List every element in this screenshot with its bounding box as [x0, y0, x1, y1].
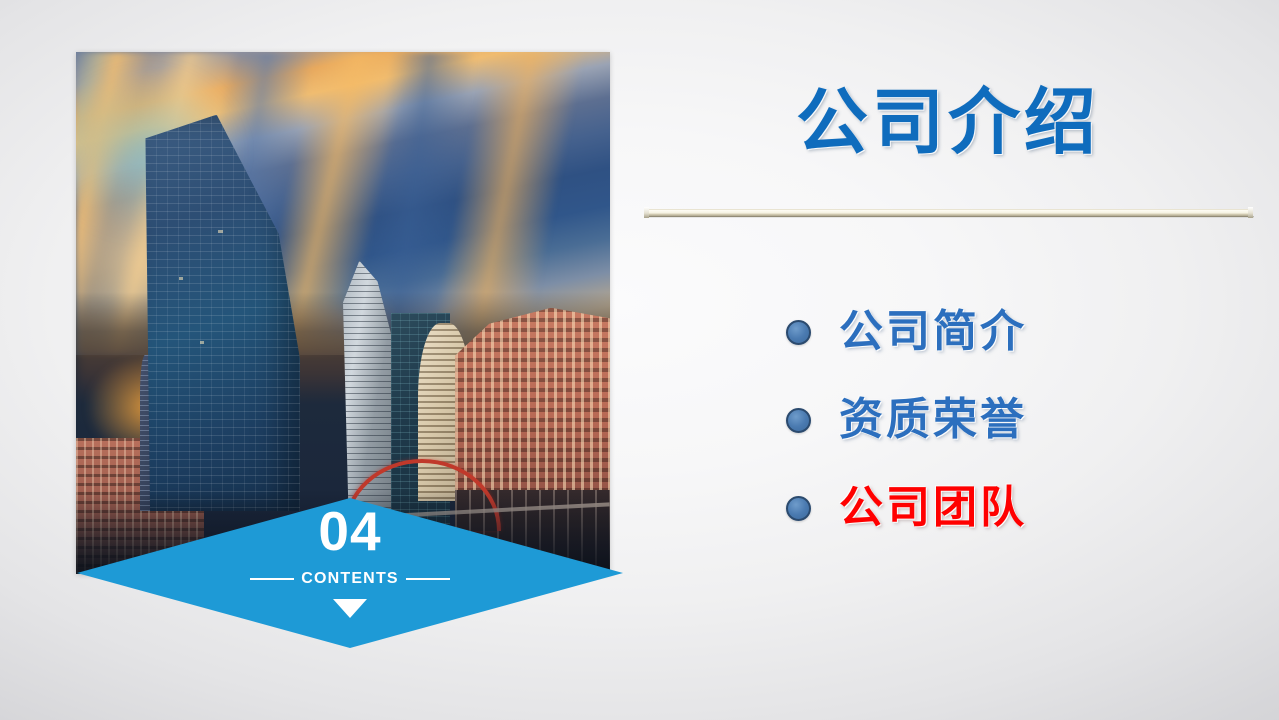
agenda-item-label: 公司团队: [839, 485, 1027, 531]
bullet-dot-icon: [786, 320, 811, 345]
agenda-item-company-team[interactable]: 公司团队: [786, 464, 1206, 552]
divider-cap-left: [644, 207, 649, 218]
window-light: [179, 277, 183, 280]
agenda-list: 公司简介 资质荣誉 公司团队: [786, 288, 1206, 552]
agenda-item-label: 资质荣誉: [839, 397, 1027, 443]
city-skyline-photo: [76, 52, 610, 574]
bullet-dot-icon: [786, 408, 811, 433]
title-divider: [645, 207, 1252, 218]
agenda-item-company-profile[interactable]: 公司简介: [786, 288, 1206, 376]
page-title: 公司介绍: [645, 84, 1251, 163]
presentation-slide: 04 CONTENTS 公司介绍 公司简介 资质荣誉 公司团队: [0, 0, 1279, 720]
divider-cap-right: [1248, 207, 1253, 218]
agenda-item-qualifications-honors[interactable]: 资质荣誉: [786, 376, 1206, 464]
agenda-item-label: 公司简介: [839, 309, 1027, 355]
window-light: [200, 341, 204, 344]
bullet-dot-icon: [786, 496, 811, 521]
window-light: [218, 230, 223, 233]
divider-shadow: [647, 216, 1254, 218]
